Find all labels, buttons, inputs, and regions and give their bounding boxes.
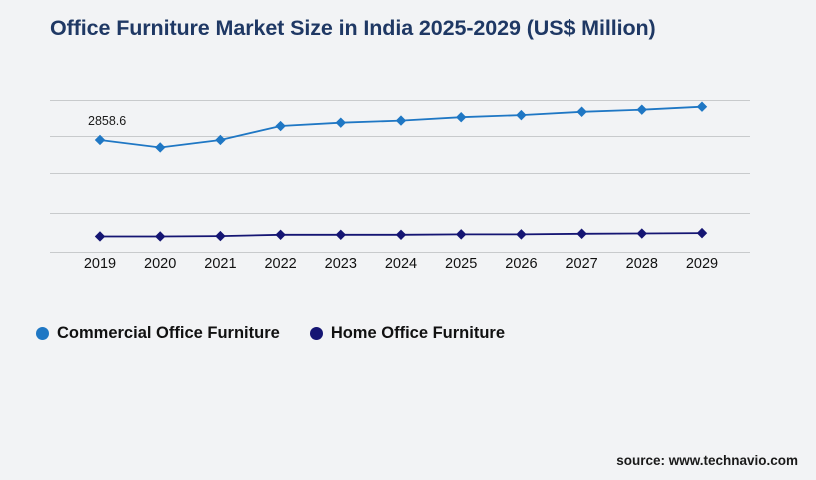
legend-label: Commercial Office Furniture bbox=[57, 324, 280, 343]
legend-marker-icon bbox=[36, 327, 49, 340]
data-point-marker[interactable] bbox=[576, 229, 586, 239]
x-axis-tick-2023: 2023 bbox=[325, 256, 357, 272]
data-point-marker[interactable] bbox=[95, 135, 105, 145]
x-axis-tick-2024: 2024 bbox=[385, 256, 417, 272]
data-point-marker[interactable] bbox=[697, 102, 707, 112]
data-point-marker[interactable] bbox=[275, 121, 285, 131]
x-axis-tick-2021: 2021 bbox=[204, 256, 236, 272]
x-axis-tick-2025: 2025 bbox=[445, 256, 477, 272]
data-point-marker[interactable] bbox=[637, 104, 647, 114]
x-axis-tick-2027: 2027 bbox=[565, 256, 597, 272]
x-axis-tick-2029: 2029 bbox=[686, 256, 718, 272]
data-point-marker[interactable] bbox=[215, 231, 225, 241]
data-point-marker[interactable] bbox=[516, 229, 526, 239]
data-point-marker[interactable] bbox=[95, 231, 105, 241]
data-point-marker[interactable] bbox=[396, 230, 406, 240]
series-line-commercial-office-furniture bbox=[100, 107, 702, 148]
x-axis-tick-2020: 2020 bbox=[144, 256, 176, 272]
x-axis-tick-2028: 2028 bbox=[626, 256, 658, 272]
data-point-marker[interactable] bbox=[396, 115, 406, 125]
data-point-marker[interactable] bbox=[336, 117, 346, 127]
data-point-marker[interactable] bbox=[155, 231, 165, 241]
x-axis-tick-2022: 2022 bbox=[264, 256, 296, 272]
x-axis-labels: 2019202020212022202320242025202620272028… bbox=[50, 256, 750, 278]
data-point-marker[interactable] bbox=[637, 228, 647, 238]
legend-marker-icon bbox=[310, 327, 323, 340]
source-note: source: www.technavio.com bbox=[616, 453, 798, 468]
series-layer bbox=[50, 100, 750, 260]
plot-area: 2858.6 bbox=[50, 100, 750, 260]
data-point-marker[interactable] bbox=[456, 112, 466, 122]
chart-container: Office Furniture Market Size in India 20… bbox=[0, 0, 816, 480]
data-point-marker[interactable] bbox=[697, 228, 707, 238]
x-axis-tick-2019: 2019 bbox=[84, 256, 116, 272]
data-point-label: 2858.6 bbox=[88, 114, 126, 128]
data-point-marker[interactable] bbox=[336, 230, 346, 240]
x-axis-tick-2026: 2026 bbox=[505, 256, 537, 272]
data-point-marker[interactable] bbox=[576, 107, 586, 117]
data-point-marker[interactable] bbox=[215, 135, 225, 145]
data-point-marker[interactable] bbox=[275, 230, 285, 240]
data-point-marker[interactable] bbox=[456, 229, 466, 239]
data-point-marker[interactable] bbox=[155, 142, 165, 152]
chart-legend: Commercial Office FurnitureHome Office F… bbox=[36, 324, 505, 343]
legend-item-home-office-furniture[interactable]: Home Office Furniture bbox=[310, 324, 505, 343]
legend-item-commercial-office-furniture[interactable]: Commercial Office Furniture bbox=[36, 324, 280, 343]
data-point-marker[interactable] bbox=[516, 110, 526, 120]
legend-label: Home Office Furniture bbox=[331, 324, 505, 343]
chart-title: Office Furniture Market Size in India 20… bbox=[50, 14, 710, 42]
